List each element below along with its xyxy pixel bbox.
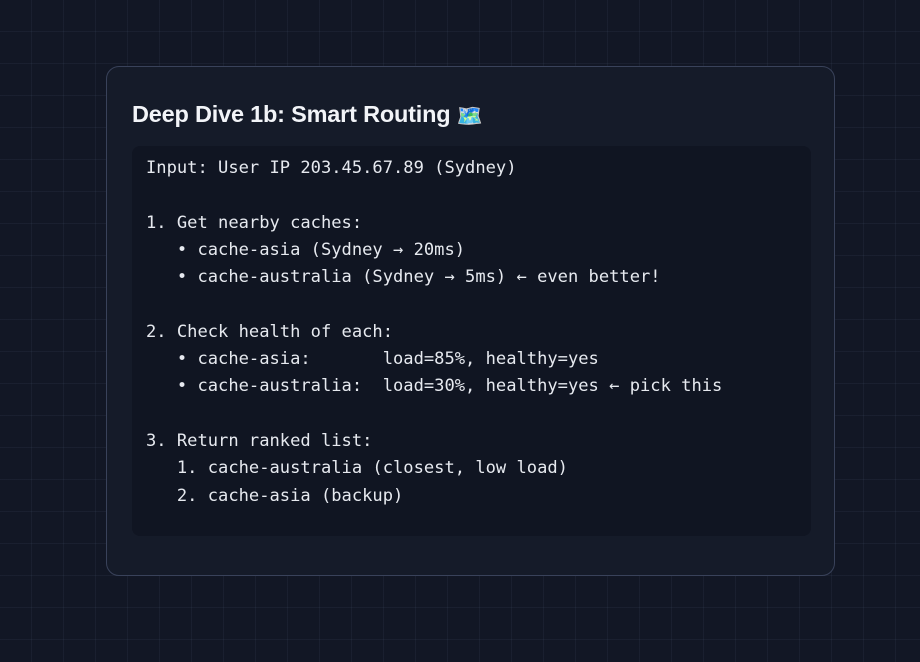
page-title: Deep Dive 1b: Smart Routing 🗺️ bbox=[132, 103, 483, 127]
content-card: Deep Dive 1b: Smart Routing 🗺️ Input: Us… bbox=[106, 66, 835, 576]
slide-canvas: Deep Dive 1b: Smart Routing 🗺️ Input: Us… bbox=[0, 0, 920, 662]
page-title-text: Deep Dive 1b: Smart Routing bbox=[132, 101, 450, 127]
world-map-icon: 🗺️ bbox=[457, 105, 483, 128]
code-block-content: Input: User IP 203.45.67.89 (Sydney) 1. … bbox=[146, 155, 722, 510]
code-block: Input: User IP 203.45.67.89 (Sydney) 1. … bbox=[132, 146, 811, 536]
